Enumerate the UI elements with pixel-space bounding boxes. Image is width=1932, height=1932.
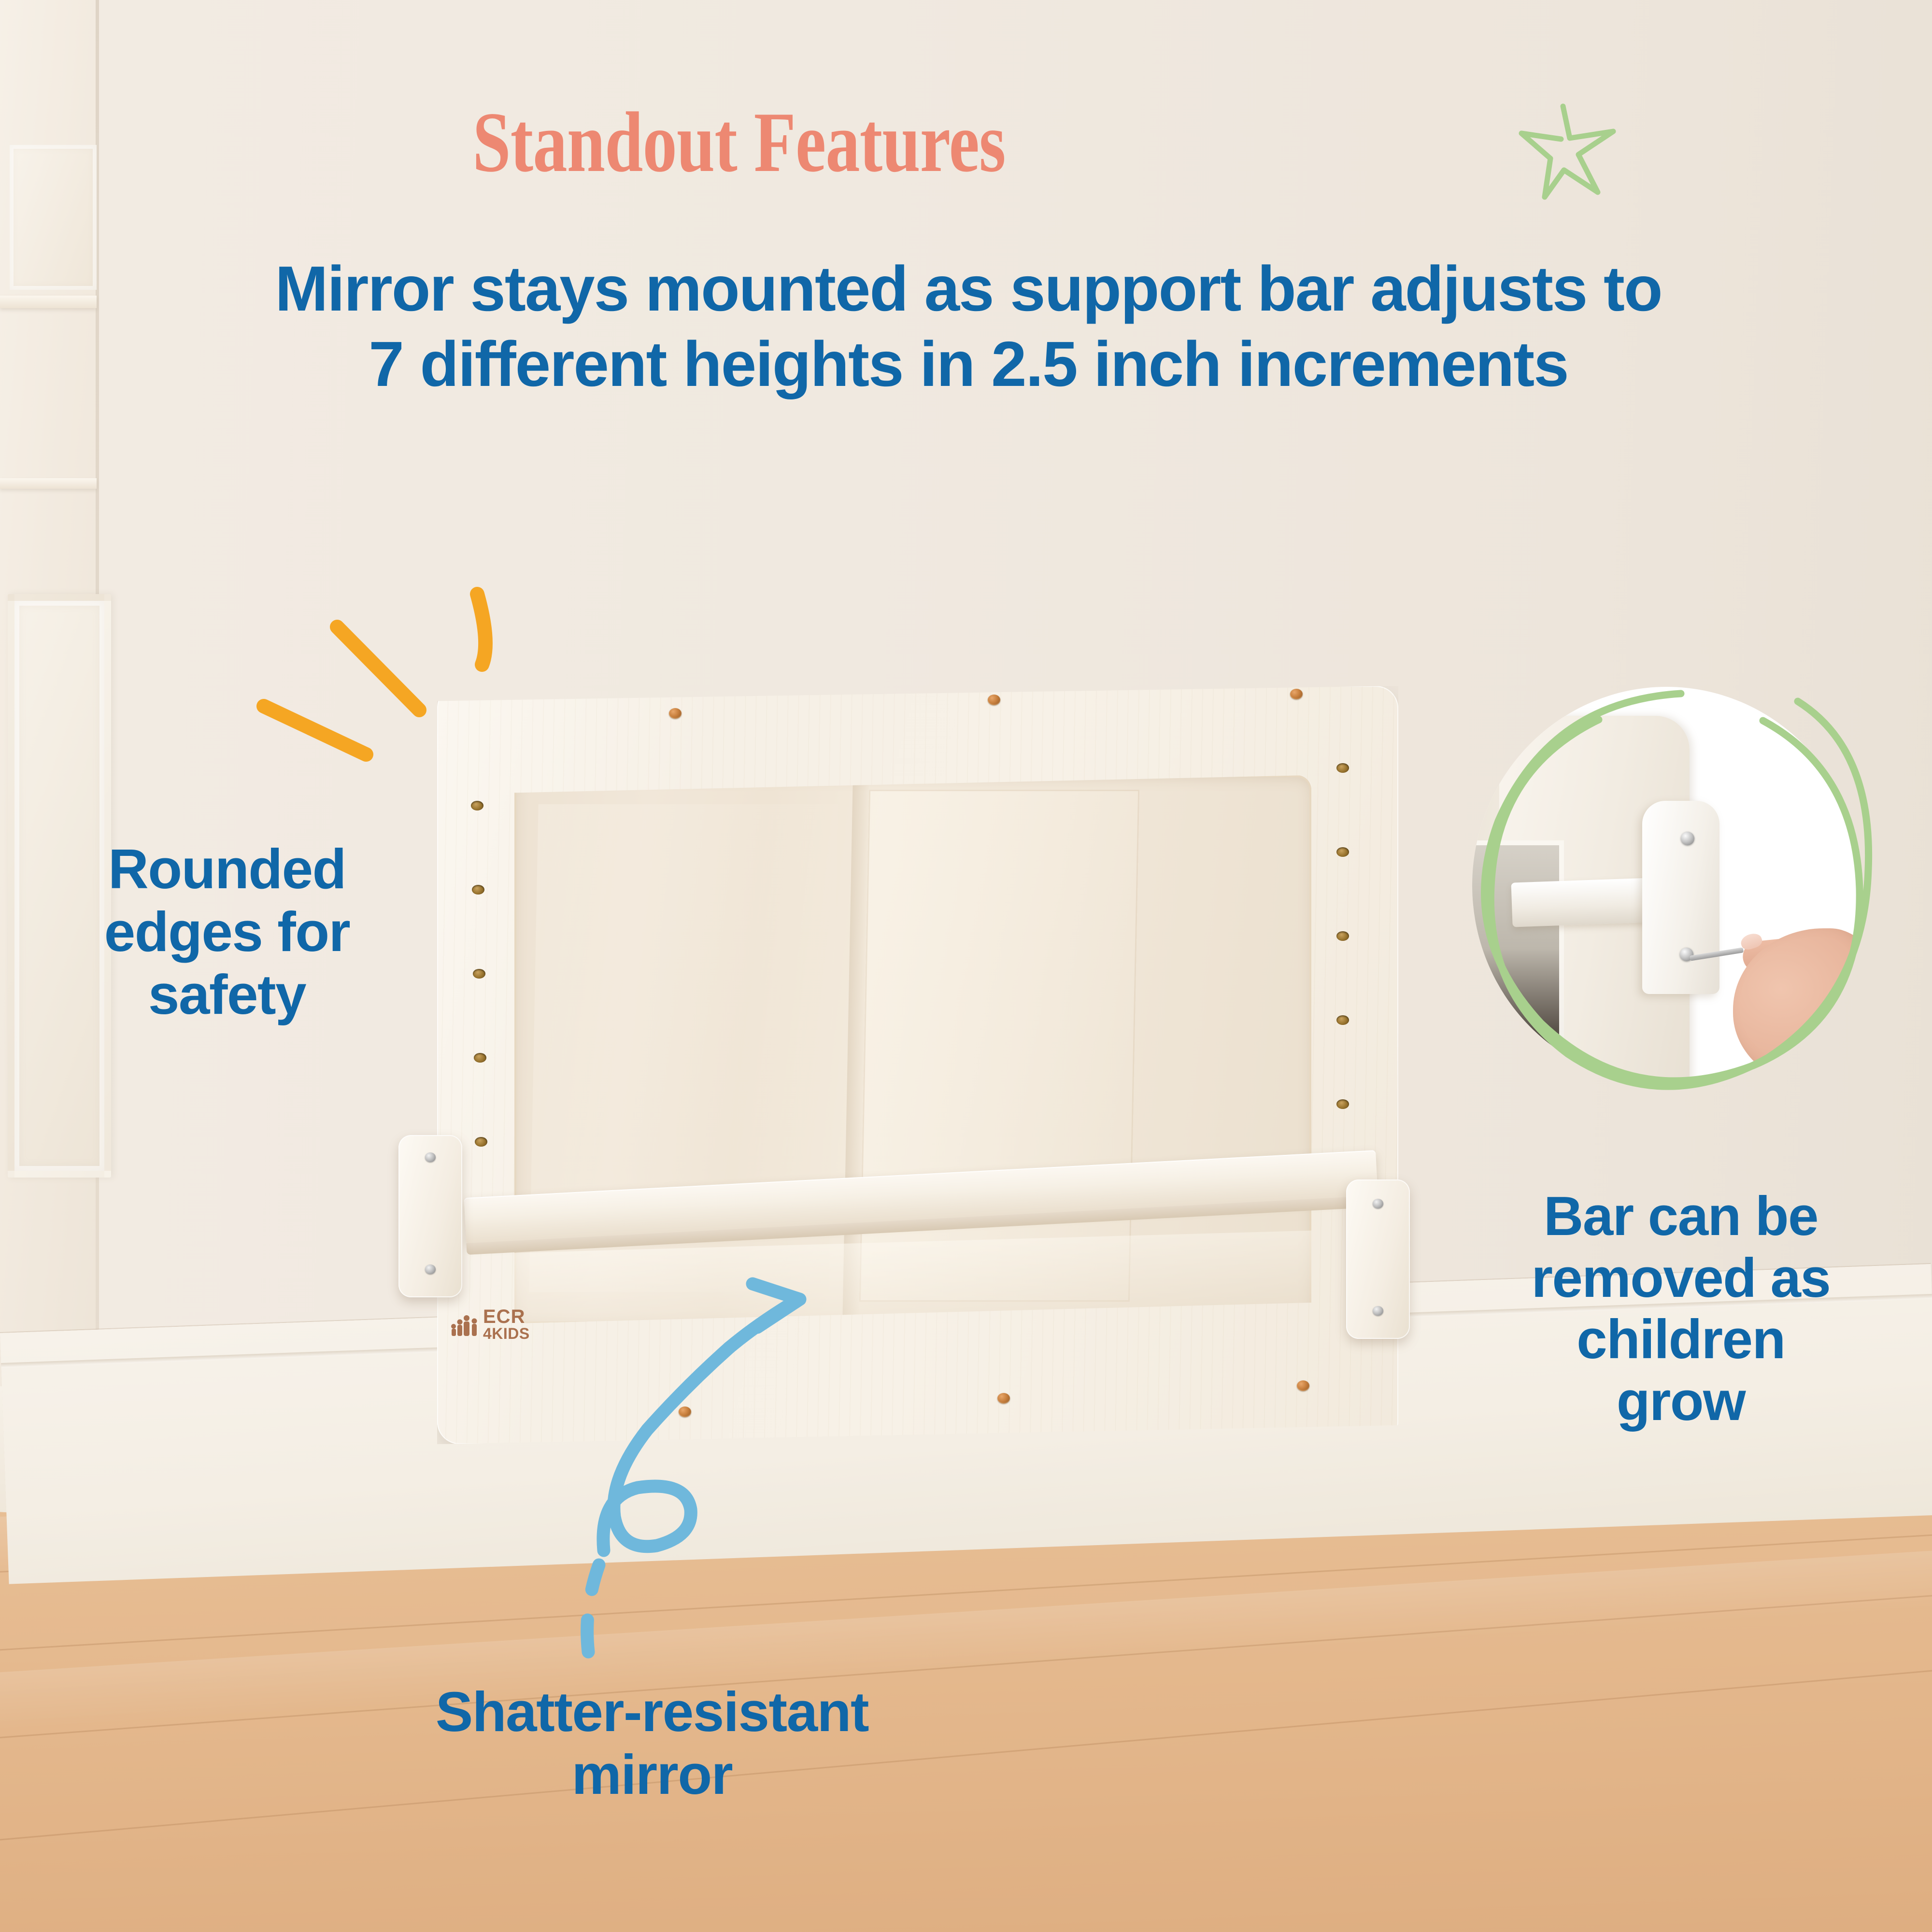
subtitle-line-2: 7 different heights in 2.5 inch incremen… xyxy=(53,327,1884,402)
bracket-detail-inset[interactable] xyxy=(1454,676,1879,1101)
callout-line: removed as xyxy=(1437,1248,1925,1309)
logo-line-2: 4KIDS xyxy=(483,1326,530,1341)
logo-line-1: ECR xyxy=(483,1308,530,1326)
callout-line: Bar can be xyxy=(1437,1186,1925,1248)
adjustment-hole xyxy=(473,969,485,979)
bracket-screw xyxy=(1373,1199,1383,1208)
hand-drawn-circle-icon xyxy=(1454,676,1879,1101)
callout-bar-removable: Bar can be removed as children grow xyxy=(1437,1186,1925,1433)
bracket-screw xyxy=(425,1152,436,1162)
frame-screw xyxy=(997,1393,1010,1404)
callout-line: edges for xyxy=(29,901,425,964)
callout-line: mirror xyxy=(299,1744,1005,1806)
frame-screw xyxy=(679,1406,691,1417)
adjustment-hole xyxy=(474,1053,486,1063)
adjustment-hole xyxy=(1336,1099,1349,1109)
support-bar-bracket-right[interactable] xyxy=(1346,1179,1410,1339)
ecr4kids-logo: ECR 4KIDS xyxy=(451,1308,530,1341)
callout-line: safety xyxy=(29,964,425,1026)
adjustment-hole xyxy=(1336,931,1349,941)
callout-line: Rounded xyxy=(29,838,425,901)
mirror-product[interactable]: ECR 4KIDS xyxy=(437,686,1398,1444)
callout-rounded-edges: Rounded edges for safety xyxy=(29,838,425,1026)
callout-line: children xyxy=(1437,1309,1925,1371)
frame-screw xyxy=(669,708,682,719)
subtitle-line-1: Mirror stays mounted as support bar adju… xyxy=(53,251,1884,327)
callout-line: Shatter-resistant xyxy=(299,1681,1005,1744)
frame-screw xyxy=(1290,689,1303,699)
adjustment-hole xyxy=(1336,847,1349,857)
adjustment-hole xyxy=(475,1137,487,1147)
adjustment-hole xyxy=(1336,763,1349,773)
page-subtitle: Mirror stays mounted as support bar adju… xyxy=(53,251,1884,402)
support-bar-bracket-left[interactable] xyxy=(398,1135,462,1297)
bracket-screw xyxy=(1373,1306,1383,1316)
adjustment-hole xyxy=(471,801,483,810)
frame-screw xyxy=(1297,1380,1309,1391)
frame-screw xyxy=(988,695,1000,705)
callout-line: grow xyxy=(1437,1371,1925,1433)
infographic-canvas: ECR 4KIDS xyxy=(0,0,1932,1932)
bracket-screw xyxy=(425,1264,436,1274)
adjustment-hole xyxy=(472,885,484,895)
page-title: Standout Features xyxy=(148,99,1330,185)
ecr4kids-figures-icon xyxy=(451,1312,479,1336)
wall-moulding-lower xyxy=(0,478,97,489)
adjustment-hole xyxy=(1336,1015,1349,1025)
callout-shatter-resistant: Shatter-resistant mirror xyxy=(299,1681,1005,1806)
